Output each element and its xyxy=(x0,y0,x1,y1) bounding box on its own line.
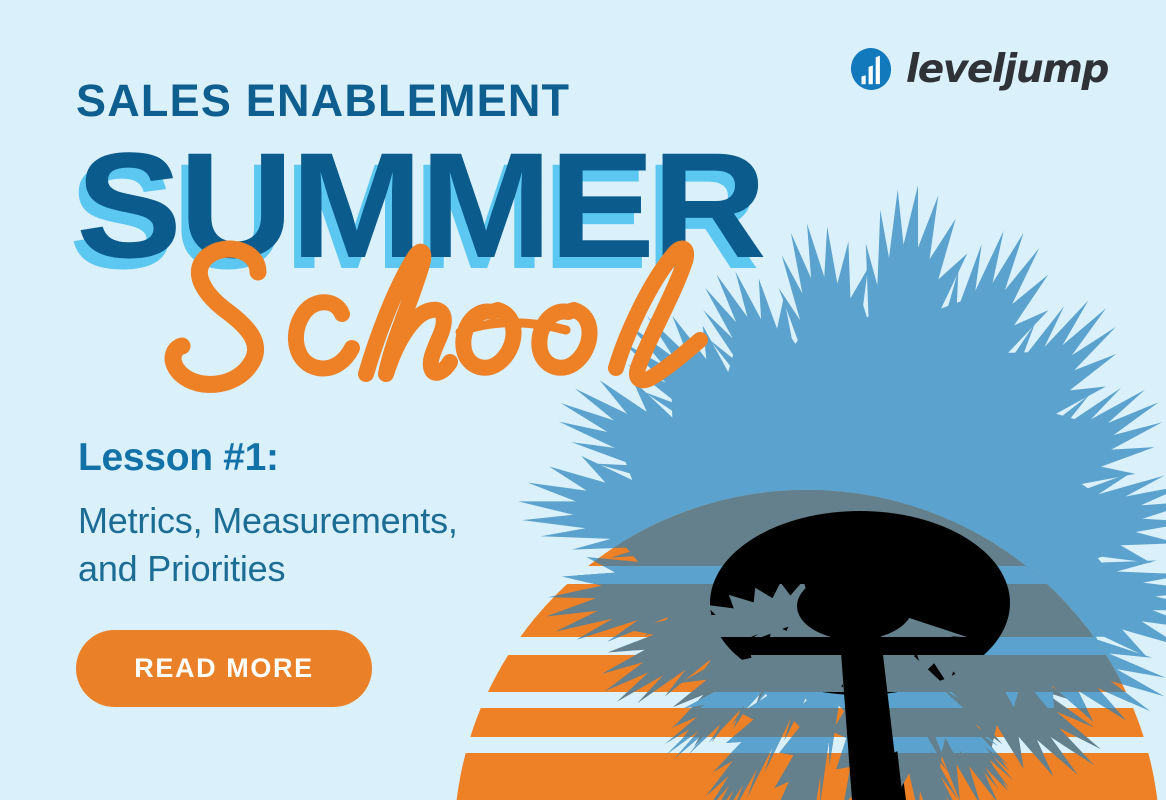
lesson-copy: Lesson #1: Metrics, Measurements, and Pr… xyxy=(78,436,548,593)
lesson-subtitle: Metrics, Measurements, and Priorities xyxy=(78,497,548,593)
palm-fronds-over-gaps xyxy=(518,448,1166,800)
leveljump-wordmark: leveljump xyxy=(906,50,1108,89)
school-script-word xyxy=(130,236,750,406)
lesson-title: Lesson #1: xyxy=(78,436,548,481)
school-script-svg xyxy=(130,236,750,406)
read-more-button[interactable]: READ MORE xyxy=(76,630,372,707)
leveljump-logo[interactable]: leveljump xyxy=(849,47,1108,91)
lesson-subtitle-line-1: Metrics, Measurements, xyxy=(78,497,548,545)
eyebrow-text: SALES ENABLEMENT xyxy=(76,78,876,123)
lesson-subtitle-line-2: and Priorities xyxy=(78,545,548,593)
promo-banner: leveljump SALES ENABLEMENT SUMMER SUMMER xyxy=(0,0,1166,800)
striped-sun xyxy=(454,490,1160,800)
